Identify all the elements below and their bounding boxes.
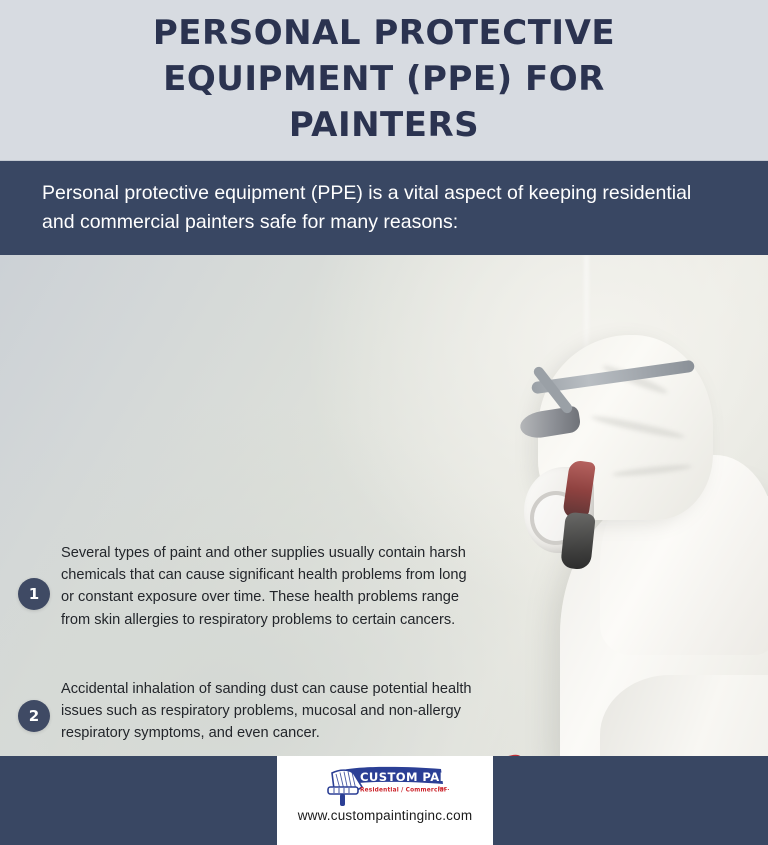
logo-tagline-text: Residential / Commercial	[360, 788, 446, 794]
list-item: 1 Several types of paint and other suppl…	[18, 542, 481, 631]
intro-text: Personal protective equipment (PPE) is a…	[0, 179, 768, 238]
logo-brand-text: CUSTOM PAINTING	[360, 770, 460, 784]
main-content-area: 1 Several types of paint and other suppl…	[0, 255, 768, 756]
ppe-infographic: Personal Protective Equipment (PPE) for …	[0, 0, 768, 845]
reasons-list: 1 Several types of paint and other suppl…	[0, 510, 500, 756]
custom-painting-logo[interactable]: CUSTOM PAINTING inc. Residential / Comme…	[310, 764, 460, 806]
logo-icon: CUSTOM PAINTING inc. Residential / Comme…	[310, 764, 460, 806]
list-item-text: Several types of paint and other supplie…	[61, 542, 481, 631]
list-item-text: Accidental inhalation of sanding dust ca…	[61, 678, 481, 745]
list-item: 2 Accidental inhalation of sanding dust …	[18, 678, 481, 745]
list-item-number-badge: 1	[18, 578, 50, 610]
header-banner: Personal Protective Equipment (PPE) for …	[0, 0, 768, 160]
website-url[interactable]: www.custompaintinginc.com	[298, 808, 473, 823]
page-title: Personal Protective Equipment (PPE) for …	[64, 11, 704, 149]
intro-band: Personal protective equipment (PPE) is a…	[0, 160, 768, 255]
footer-logo-card: CUSTOM PAINTING inc. Residential / Comme…	[277, 756, 493, 845]
footer-band: CUSTOM PAINTING inc. Residential / Comme…	[0, 756, 768, 845]
list-item-number-badge: 2	[18, 700, 50, 732]
